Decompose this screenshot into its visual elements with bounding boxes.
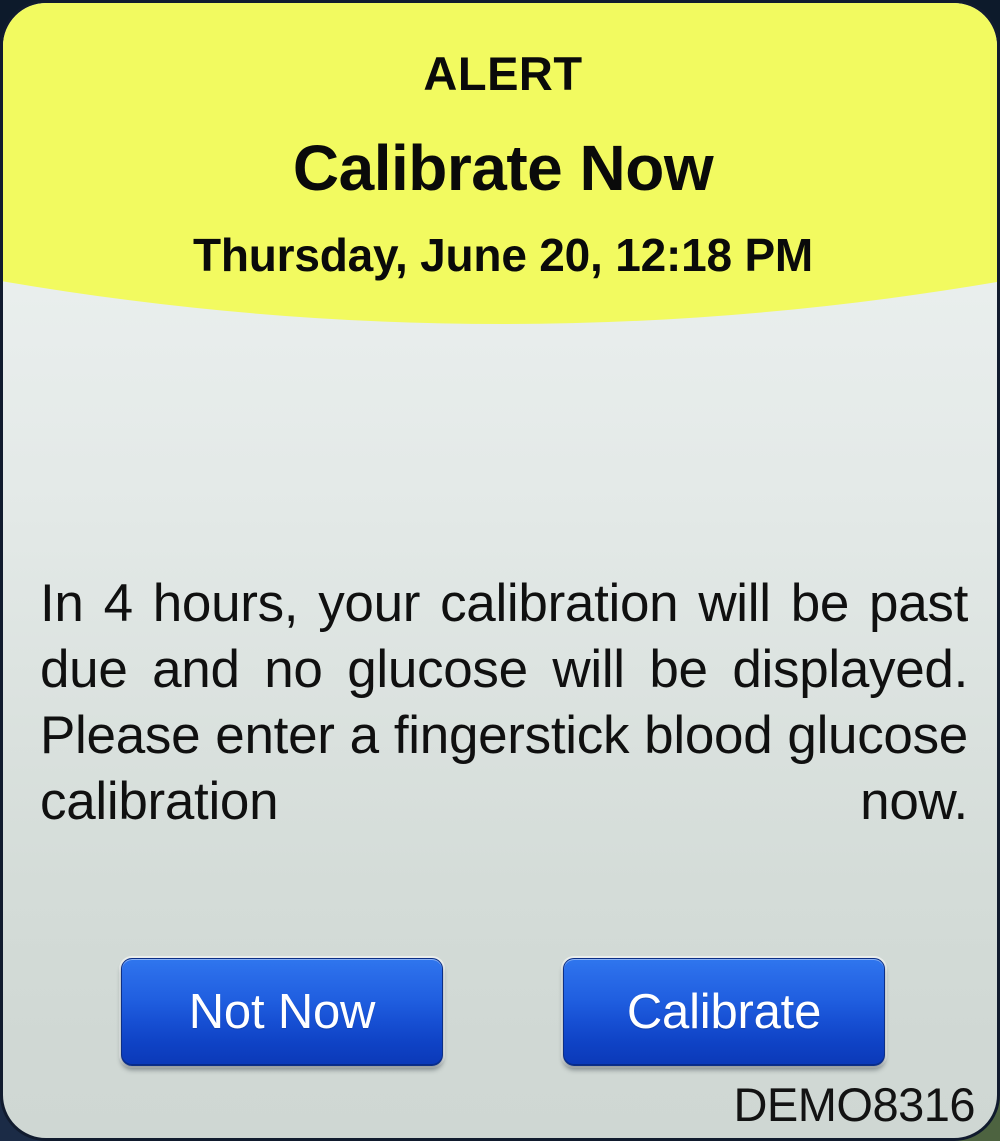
- demo-serial-label: DEMO8316: [733, 1077, 975, 1132]
- device-screen: ALERT Calibrate Now Thursday, June 20, 1…: [0, 0, 1000, 1141]
- not-now-button[interactable]: Not Now: [121, 958, 443, 1066]
- alert-message-text: In 4 hours, your calibration will be pas…: [40, 571, 968, 901]
- alert-banner: [1, 1, 1000, 353]
- dialog-button-row: Not Now Calibrate: [3, 958, 1000, 1070]
- calibrate-button[interactable]: Calibrate: [563, 958, 885, 1066]
- alert-banner-shape: [1, 1, 1000, 324]
- alert-body: In 4 hours, your calibration will be pas…: [40, 571, 968, 901]
